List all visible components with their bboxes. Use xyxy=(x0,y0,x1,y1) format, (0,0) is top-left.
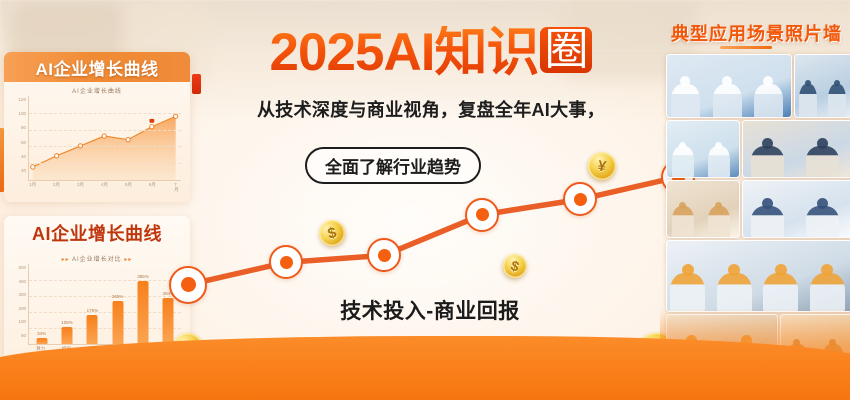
photo-figure xyxy=(671,84,700,118)
photo-figure-head xyxy=(762,198,773,209)
photo-figure xyxy=(799,84,817,118)
growth-node-3[interactable] xyxy=(367,238,401,272)
main-line-svg xyxy=(150,150,710,360)
card2-bar[interactable]: 105% xyxy=(62,327,73,344)
card1-xtick: 3月 xyxy=(77,182,84,188)
photo-figure xyxy=(672,146,694,178)
photo-figure xyxy=(754,84,783,118)
card1-xtick: 2月 xyxy=(53,182,60,188)
photo-figure-head xyxy=(775,264,787,276)
card1-gridline xyxy=(29,130,181,131)
card1-banner: AI企业增长曲线 xyxy=(4,52,190,82)
photo-figure-head xyxy=(715,142,722,149)
photo-figure-head xyxy=(817,138,828,149)
photo-laptop-worker[interactable] xyxy=(742,180,850,238)
growth-node-5[interactable] xyxy=(563,182,597,216)
card2-bar-label: 105% xyxy=(61,320,73,325)
card2-bar[interactable]: 34% xyxy=(36,338,47,344)
card2-ytick: 200 xyxy=(18,306,26,311)
photo-lab-technician[interactable] xyxy=(666,120,740,178)
photo-figure xyxy=(806,146,839,178)
photo-figure xyxy=(708,206,730,238)
card2-title: AI企业增长曲线 xyxy=(32,220,162,246)
card2-y-axis: 50040030020010050 xyxy=(11,264,27,345)
photo-figure-head xyxy=(821,264,833,276)
card1-xtick: 1月 xyxy=(29,182,36,188)
photo-wall-title: 典型应用场景照片墙 xyxy=(671,20,842,46)
photo-figure xyxy=(751,206,784,238)
photo-wall-underline xyxy=(720,46,772,49)
growth-node-2[interactable] xyxy=(269,245,303,279)
growth-node-1[interactable] xyxy=(169,266,207,304)
card2-bar[interactable]: 175% xyxy=(87,315,98,344)
headline-main: 2025AI知识 xyxy=(270,26,539,79)
card1-gridline xyxy=(29,113,181,114)
coin-glyph: ¥ xyxy=(596,157,607,175)
photo-medical-team[interactable] xyxy=(666,54,792,118)
photo-figure-head xyxy=(679,142,686,149)
card2-bar-label: 175% xyxy=(87,308,99,313)
card2-bar-label: 385% xyxy=(137,274,149,279)
tagline: 技术投入-商业回报 xyxy=(330,295,530,325)
card2-ytick: 100 xyxy=(18,319,26,324)
photo-office-desk[interactable] xyxy=(742,120,850,178)
card2-bar[interactable]: 265% xyxy=(112,301,123,344)
card2-bar-label: 265% xyxy=(112,294,124,299)
card1-ytick: 20 xyxy=(21,168,26,173)
photo-figure xyxy=(708,146,730,178)
card2-ytick: 50 xyxy=(21,333,26,338)
headline-boxed-char: 圈 xyxy=(540,27,592,73)
card1-xtick: 5月 xyxy=(125,182,132,188)
photo-figure-head xyxy=(679,202,686,209)
photo-workshop-bench[interactable] xyxy=(666,180,740,238)
photo-figure-head xyxy=(722,76,732,86)
photo-figure-head xyxy=(682,264,694,276)
arrow-right-icon: ▸▸ xyxy=(124,257,132,263)
card1-y-axis: 12010080604020 xyxy=(11,96,27,181)
photo-engineer-console[interactable] xyxy=(794,54,850,118)
bottom-wave-front xyxy=(0,336,850,400)
photo-figure-head xyxy=(728,264,740,276)
photo-production-line[interactable] xyxy=(666,240,850,312)
card1-ytick: 60 xyxy=(21,140,26,145)
coin-glyph: $ xyxy=(509,257,521,275)
card1-ytick: 100 xyxy=(18,111,26,116)
photo-figure xyxy=(670,273,705,312)
main-growth-chart xyxy=(150,150,710,360)
photo-figure-head xyxy=(680,76,690,86)
photo-figure xyxy=(763,273,798,312)
arrow-left-icon: ▸▸ xyxy=(62,257,70,263)
photo-figure-head xyxy=(805,80,811,86)
card1-gridline xyxy=(29,146,181,147)
photo-figure-head xyxy=(763,76,773,86)
photo-figure xyxy=(717,273,752,312)
coin-glyph: $ xyxy=(326,224,338,243)
photo-figure-head xyxy=(834,80,840,86)
photo-figure-head xyxy=(817,198,828,209)
card2-ytick: 500 xyxy=(18,265,26,270)
card1-title: AI企业增长曲线 xyxy=(36,55,159,80)
card2-ytick: 300 xyxy=(18,292,26,297)
card1-ytick: 80 xyxy=(21,125,26,130)
photo-figure-head xyxy=(762,138,773,149)
card1-chart-subtitle: AI企业增长曲线 xyxy=(4,86,190,95)
photo-figure xyxy=(810,273,845,312)
card2-bar-label: 34% xyxy=(37,331,46,336)
photo-figure xyxy=(828,84,846,118)
card2-chart-subtitle-text: AI企业增长对比 xyxy=(72,257,122,263)
card1-ytick: 40 xyxy=(21,154,26,159)
photo-figure xyxy=(672,206,694,238)
headline-block: 2025AI知识圈 xyxy=(196,26,666,79)
poster-canvas: AI企业增长曲线 AI企业增长曲线 12010080604020 1月2月3月4… xyxy=(0,0,850,400)
growth-node-4[interactable] xyxy=(465,198,499,232)
subtitle: 从技术深度与商业视角，复盘全年AI大事， xyxy=(196,96,666,122)
card2-ytick: 400 xyxy=(18,279,26,284)
photo-figure xyxy=(713,84,742,118)
photo-figure xyxy=(806,206,839,238)
photo-figure-head xyxy=(715,202,722,209)
card1-xtick: 4月 xyxy=(101,182,108,188)
card1-ytick: 120 xyxy=(18,97,26,102)
photo-figure xyxy=(751,146,784,178)
